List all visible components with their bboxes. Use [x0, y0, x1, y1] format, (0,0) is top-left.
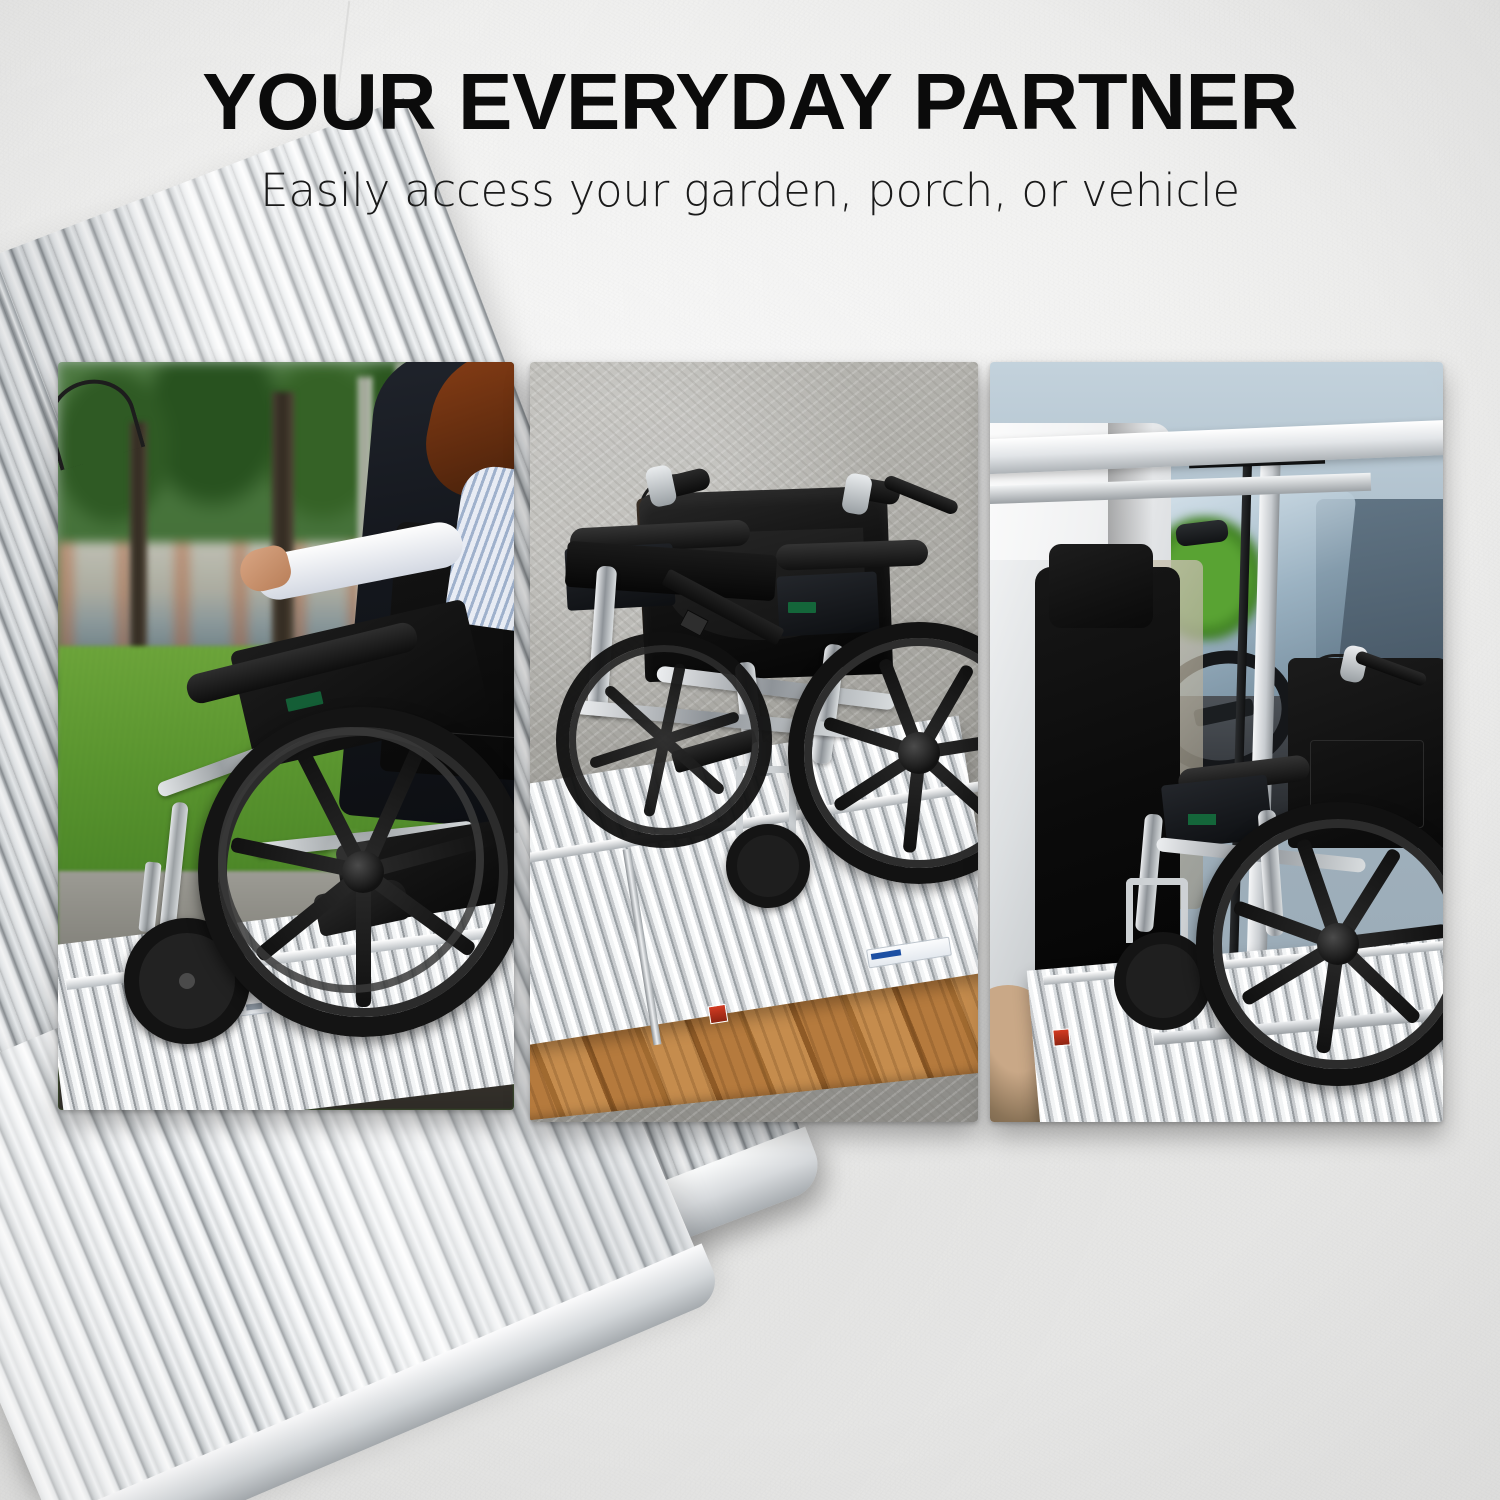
banner-canvas: YOUR EVERYDAY PARTNER Easily access your… [0, 0, 1500, 1500]
vignette-overlay [0, 0, 1500, 1500]
